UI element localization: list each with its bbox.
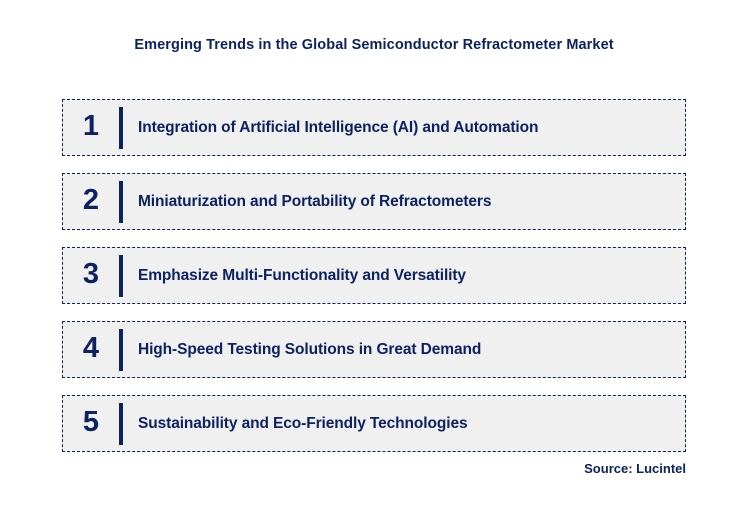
trend-label: Miniaturization and Portability of Refra… [123, 193, 685, 211]
list-item: 1 Integration of Artificial Intelligence… [62, 99, 686, 156]
trend-label: Emphasize Multi-Functionality and Versat… [123, 267, 685, 285]
trend-rank-number: 1 [63, 112, 119, 143]
trend-rank-number: 4 [63, 334, 119, 365]
trend-rank-number: 2 [63, 186, 119, 217]
list-item: 5 Sustainability and Eco-Friendly Techno… [62, 395, 686, 452]
list-item: 4 High-Speed Testing Solutions in Great … [62, 321, 686, 378]
list-item: 3 Emphasize Multi-Functionality and Vers… [62, 247, 686, 304]
trend-list: 1 Integration of Artificial Intelligence… [62, 99, 686, 452]
infographic-canvas: Emerging Trends in the Global Semiconduc… [0, 0, 748, 511]
source-attribution: Source: Lucintel [584, 461, 686, 476]
list-item: 2 Miniaturization and Portability of Ref… [62, 173, 686, 230]
trend-rank-number: 3 [63, 260, 119, 291]
page-title: Emerging Trends in the Global Semiconduc… [0, 37, 748, 53]
trend-label: Integration of Artificial Intelligence (… [123, 119, 685, 137]
trend-label: Sustainability and Eco-Friendly Technolo… [123, 415, 685, 433]
trend-rank-number: 5 [63, 408, 119, 439]
trend-label: High-Speed Testing Solutions in Great De… [123, 341, 685, 359]
